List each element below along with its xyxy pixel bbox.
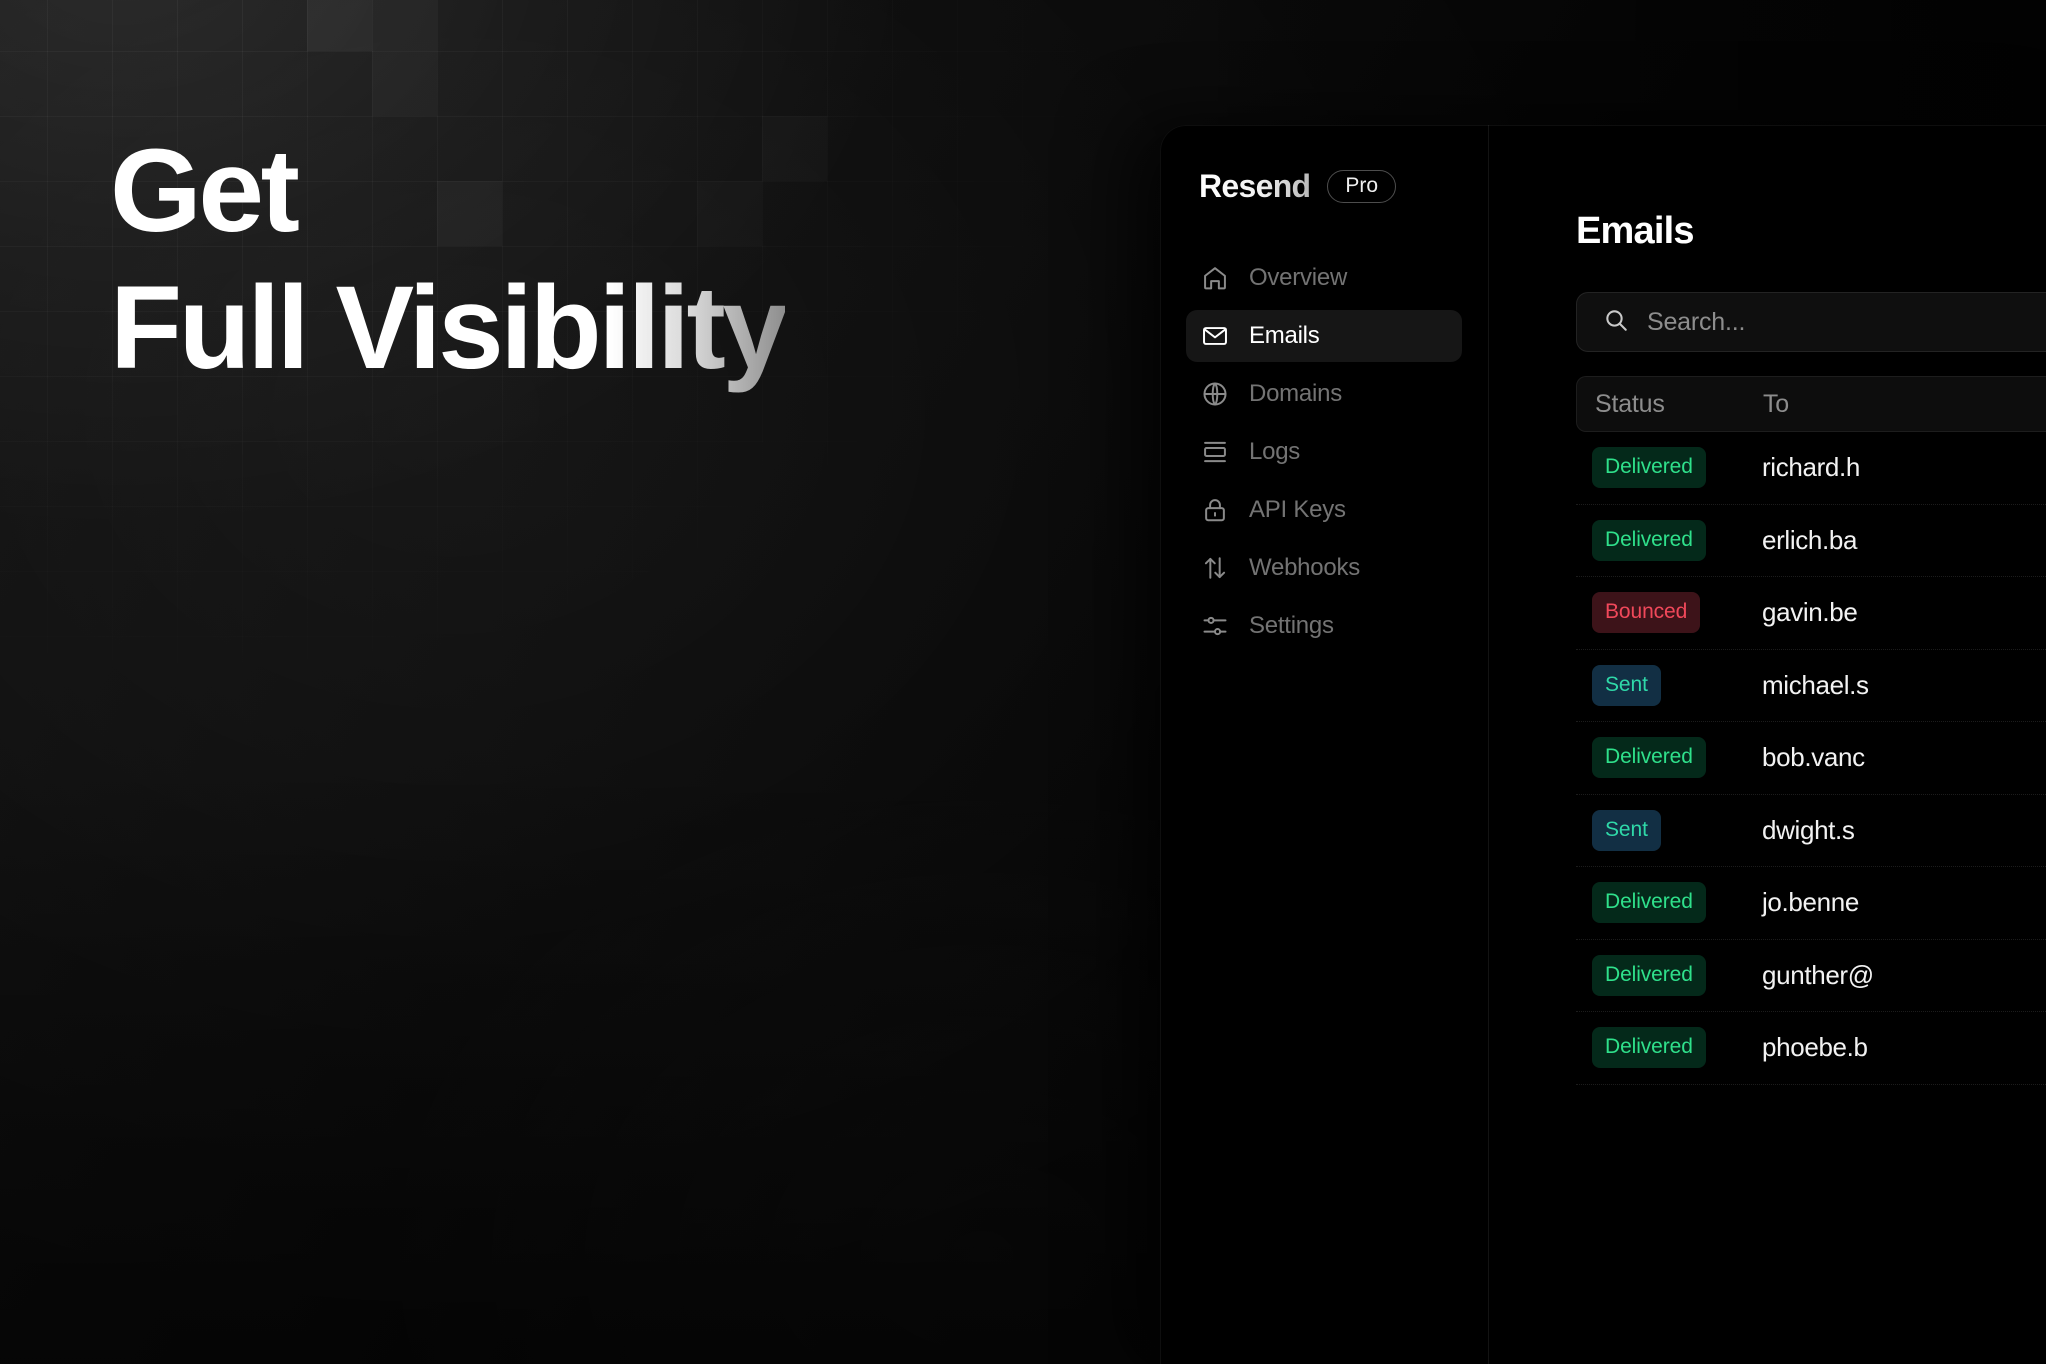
search-placeholder: Search... [1647, 308, 1745, 337]
cell-status: Delivered [1576, 955, 1762, 996]
brand-logo-text: Resend [1199, 168, 1310, 205]
sidebar-item-label: Logs [1249, 438, 1300, 466]
cell-status: Delivered [1576, 737, 1762, 778]
table-row[interactable]: Deliveredrichard.h [1576, 432, 2046, 505]
app-window: Resend Pro Overview [1160, 125, 2046, 1364]
sidebar-item-label: API Keys [1249, 496, 1346, 524]
status-badge: Sent [1592, 810, 1661, 851]
status-badge: Delivered [1592, 882, 1706, 923]
cell-recipient: michael.s [1762, 670, 2046, 701]
table-row[interactable]: Sentmichael.s [1576, 650, 2046, 723]
sliders-icon [1201, 612, 1229, 640]
hero-headline-line-1: Get [110, 123, 785, 260]
search-input[interactable]: Search... [1576, 292, 2046, 352]
status-badge: Sent [1592, 665, 1661, 706]
status-badge: Delivered [1592, 520, 1706, 561]
globe-icon [1201, 380, 1229, 408]
cell-status: Delivered [1576, 882, 1762, 923]
arrows-updown-icon [1201, 554, 1229, 582]
hero-screenshot: Get Full Visibility Resend Pro Overview [0, 0, 2046, 1364]
cell-status: Delivered [1576, 447, 1762, 488]
status-badge: Bounced [1592, 592, 1700, 633]
cell-recipient: dwight.s [1762, 815, 2046, 846]
status-badge: Delivered [1592, 447, 1706, 488]
hero-headline-line-2: Full Visibility [110, 260, 785, 397]
status-badge: Delivered [1592, 955, 1706, 996]
sidebar-item-label: Domains [1249, 380, 1342, 408]
main-content: Emails Search... Status To Deliveredrich… [1489, 125, 2046, 1364]
cell-status: Delivered [1576, 1027, 1762, 1068]
cell-recipient: richard.h [1762, 452, 2046, 483]
cell-status: Sent [1576, 665, 1762, 706]
home-icon [1201, 264, 1229, 292]
status-badge: Delivered [1592, 1027, 1706, 1068]
sidebar-item-label: Webhooks [1249, 554, 1360, 582]
cell-recipient: phoebe.b [1762, 1032, 2046, 1063]
sidebar-item-api-keys[interactable]: API Keys [1186, 484, 1462, 536]
sidebar-item-label: Settings [1249, 612, 1334, 640]
table-row[interactable]: Deliveredgunther@ [1576, 940, 2046, 1013]
cell-recipient: jo.benne [1762, 887, 2046, 918]
sidebar-item-webhooks[interactable]: Webhooks [1186, 542, 1462, 594]
sidebar-nav: Overview Emails [1186, 252, 1462, 658]
table-row[interactable]: Deliveredphoebe.b [1576, 1012, 2046, 1085]
lock-icon [1201, 496, 1229, 524]
cell-recipient: erlich.ba [1762, 525, 2046, 556]
page-title: Emails [1576, 210, 2046, 253]
sidebar-item-logs[interactable]: Logs [1186, 426, 1462, 478]
cell-recipient: gunther@ [1762, 960, 2046, 991]
cell-recipient: bob.vanc [1762, 742, 2046, 773]
brand: Resend Pro [1186, 168, 1462, 205]
sidebar-item-label: Emails [1249, 322, 1320, 350]
column-header-status[interactable]: Status [1577, 390, 1763, 419]
cell-status: Bounced [1576, 592, 1762, 633]
envelope-icon [1201, 322, 1229, 350]
sidebar-item-settings[interactable]: Settings [1186, 600, 1462, 652]
email-table-body: Deliveredrichard.hDeliverederlich.baBoun… [1576, 432, 2046, 1085]
sidebar-item-domains[interactable]: Domains [1186, 368, 1462, 420]
cell-status: Sent [1576, 810, 1762, 851]
plan-badge: Pro [1327, 170, 1396, 203]
hero-headline: Get Full Visibility [110, 123, 785, 397]
table-header: Status To [1576, 376, 2046, 432]
search-icon [1603, 307, 1629, 338]
cell-status: Delivered [1576, 520, 1762, 561]
sidebar: Resend Pro Overview [1160, 125, 1489, 1364]
logs-icon [1201, 438, 1229, 466]
table-row[interactable]: Deliverederlich.ba [1576, 505, 2046, 578]
table-row[interactable]: Deliveredjo.benne [1576, 867, 2046, 940]
sidebar-item-overview[interactable]: Overview [1186, 252, 1462, 304]
table-row[interactable]: Deliveredbob.vanc [1576, 722, 2046, 795]
table-row[interactable]: Sentdwight.s [1576, 795, 2046, 868]
table-row[interactable]: Bouncedgavin.be [1576, 577, 2046, 650]
sidebar-item-emails[interactable]: Emails [1186, 310, 1462, 362]
status-badge: Delivered [1592, 737, 1706, 778]
sidebar-item-label: Overview [1249, 264, 1347, 292]
cell-recipient: gavin.be [1762, 597, 2046, 628]
column-header-to[interactable]: To [1763, 390, 2046, 419]
